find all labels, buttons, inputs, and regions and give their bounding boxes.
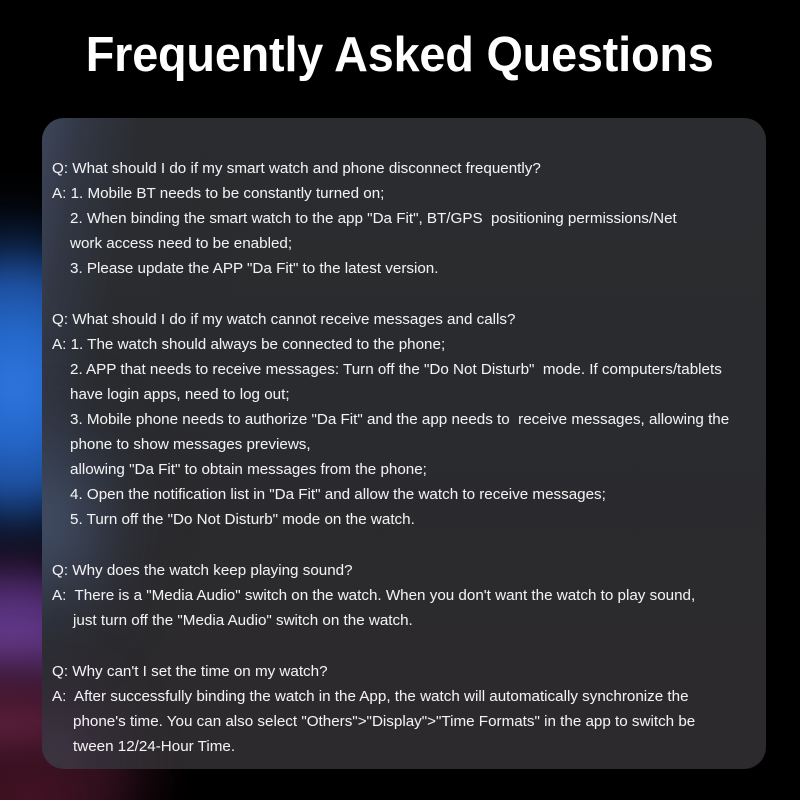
faq-answer-continuation-line: phone's time. You can also select "Other… xyxy=(52,709,748,734)
page-title-container: Frequently Asked Questions xyxy=(0,26,800,84)
faq-card: Q: What should I do if my smart watch an… xyxy=(42,118,766,769)
faq-answer-continuation-line: work access need to be enabled; xyxy=(52,231,748,256)
faq-answer-line: A: There is a "Media Audio" switch on th… xyxy=(52,583,748,608)
faq-answer-line: A: After successfully binding the watch … xyxy=(52,684,748,709)
faq-page: Frequently Asked Questions Q: What shoul… xyxy=(0,0,800,800)
faq-answer-continuation-line: tween 12/24-Hour Time. xyxy=(52,734,748,759)
faq-block: Q: Why can't I set the time on my watch?… xyxy=(52,659,748,759)
faq-answer-continuation-line: 3. Please update the APP "Da Fit" to the… xyxy=(52,256,748,281)
faq-answer-continuation-line: 4. Open the notification list in "Da Fit… xyxy=(52,482,748,507)
faq-block: Q: What should I do if my smart watch an… xyxy=(52,156,748,281)
faq-question-line: Q: Why can't I set the time on my watch? xyxy=(52,659,748,684)
faq-answer-line: A: 1. Mobile BT needs to be constantly t… xyxy=(52,181,748,206)
faq-answer-continuation-line: 5. Turn off the "Do Not Disturb" mode on… xyxy=(52,507,748,532)
faq-answer-continuation-line: 2. When binding the smart watch to the a… xyxy=(52,206,748,231)
faq-question-line: Q: What should I do if my smart watch an… xyxy=(52,156,748,181)
faq-answer-continuation-line: 2. APP that needs to receive messages: T… xyxy=(52,357,748,382)
faq-answer-continuation-line: allowing "Da Fit" to obtain messages fro… xyxy=(52,457,748,482)
faq-answer-continuation-line: phone to show messages previews, xyxy=(52,432,748,457)
faq-answer-continuation-line: have login apps, need to log out; xyxy=(52,382,748,407)
faq-question-line: Q: What should I do if my watch cannot r… xyxy=(52,307,748,332)
faq-answer-continuation-line: 3. Mobile phone needs to authorize "Da F… xyxy=(52,407,748,432)
faq-answer-continuation-line: just turn off the "Media Audio" switch o… xyxy=(52,608,748,633)
faq-question-line: Q: Why does the watch keep playing sound… xyxy=(52,558,748,583)
faq-block: Q: Why does the watch keep playing sound… xyxy=(52,558,748,633)
page-title: Frequently Asked Questions xyxy=(86,26,714,84)
faq-answer-line: A: 1. The watch should always be connect… xyxy=(52,332,748,357)
faq-content: Q: What should I do if my smart watch an… xyxy=(42,118,766,759)
faq-block: Q: What should I do if my watch cannot r… xyxy=(52,307,748,532)
